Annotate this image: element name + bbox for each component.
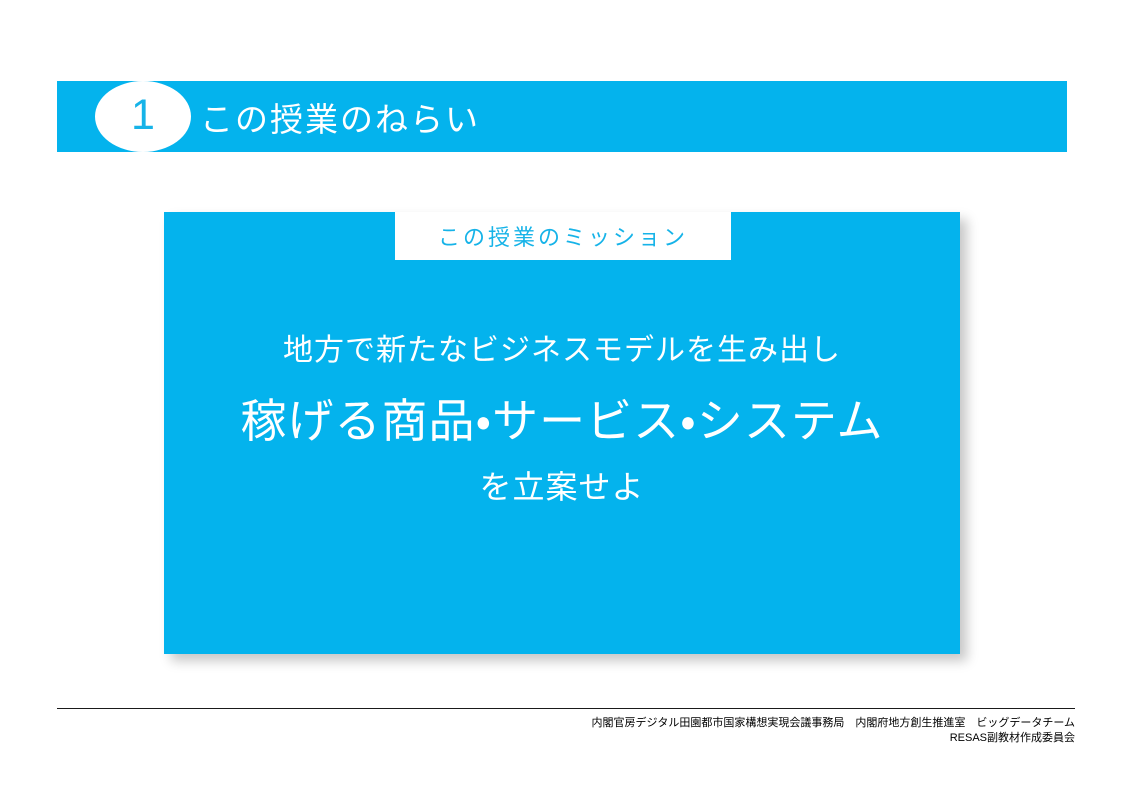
mission-line-1: 地方で新たなビジネスモデルを生み出し (164, 332, 960, 370)
section-title: この授業のねらい (200, 81, 480, 152)
mission-label-text: この授業のミッション (438, 220, 688, 252)
footer-credit-line-2: RESAS副教材作成委員会 (592, 731, 1075, 746)
footer-credit-line-1: 内閣官房デジタル田園都市国家構想実現会議事務局 内閣府地方創生推進室 ビッグデー… (592, 716, 1075, 731)
mission-body: 地方で新たなビジネスモデルを生み出し 稼げる商品・サービス・システム を立案せよ (164, 332, 960, 507)
footer-divider (57, 708, 1075, 709)
section-header-banner: 1 この授業のねらい (57, 81, 1067, 152)
section-number-badge: 1 (95, 81, 191, 152)
section-number: 1 (131, 94, 155, 137)
slide-canvas: 1 この授業のねらい この授業のミッション 地方で新たなビジネスモデルを生み出し… (0, 0, 1123, 794)
mission-label-box: この授業のミッション (395, 212, 731, 260)
mission-panel: この授業のミッション 地方で新たなビジネスモデルを生み出し 稼げる商品・サービス… (164, 212, 960, 654)
footer-credits: 内閣官房デジタル田園都市国家構想実現会議事務局 内閣府地方創生推進室 ビッグデー… (592, 716, 1075, 745)
mission-line-3: を立案せよ (164, 467, 960, 507)
mission-line-2: 稼げる商品・サービス・システム (164, 392, 960, 452)
